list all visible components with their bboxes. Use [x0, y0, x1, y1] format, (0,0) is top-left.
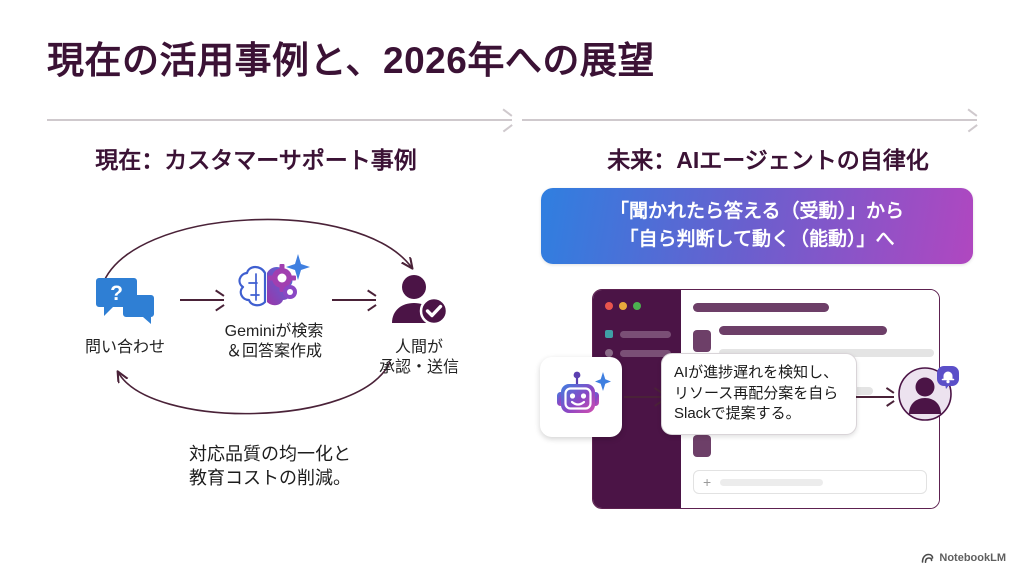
- compose-placeholder: [720, 479, 823, 486]
- window-traffic-lights: [605, 302, 671, 310]
- message-avatar-placeholder: [693, 330, 711, 352]
- person-check-icon: [360, 268, 478, 332]
- message-compose-field[interactable]: +: [693, 470, 927, 494]
- message-avatar-placeholder: [693, 435, 711, 457]
- flow-node-label: 問い合わせ: [62, 338, 188, 358]
- flow-node-inquiry: ? 問い合わせ: [62, 268, 188, 358]
- flow-caption: 対応品質の均一化と 教育コストの削減。: [60, 442, 480, 491]
- flow-node-label: Geminiが検索 ＆回答案作成: [200, 322, 348, 362]
- ai-suggestion-bubble: AIが進捗遅れを検知し、 リソース再配分案を自ら Slackで提案する。: [661, 353, 857, 435]
- left-column-rule-arrow: [47, 113, 512, 127]
- sidebar-channel-row: [605, 330, 671, 338]
- notebooklm-watermark: NotebookLM: [921, 552, 1006, 564]
- sidebar-channel-row: [605, 349, 671, 357]
- robot-sparkle-icon: [551, 369, 611, 425]
- flow-node-label: 人間が 承認・送信: [360, 338, 478, 378]
- notebooklm-logo-icon: [921, 553, 934, 564]
- flow-node-gemini: Geminiが検索 ＆回答案作成: [200, 252, 348, 362]
- flow-node-human: 人間が 承認・送信: [360, 268, 478, 378]
- future-statement-banner: 「聞かれたら答える（受動）」から 「自ら判断して動く（能動）」へ: [541, 188, 973, 264]
- brain-gear-sparkle-icon: [200, 252, 348, 316]
- customer-support-flow-diagram: ? 問い合わせ: [60, 190, 480, 500]
- user-avatar: [897, 362, 959, 424]
- right-column-rule-arrow: [522, 113, 977, 127]
- message-placeholder-bar: [693, 303, 829, 312]
- plus-icon[interactable]: +: [703, 475, 711, 489]
- question-speech-bubbles-icon: ?: [62, 268, 188, 332]
- mockup-arrow-2: [856, 391, 894, 403]
- message-placeholder-bar: [719, 326, 887, 335]
- left-column-heading: 現在：カスタマーサポート事例: [0, 141, 512, 175]
- page-title: 現在の活用事例と、2026年への展望: [47, 30, 655, 84]
- right-column-heading: 未来：AIエージェントの自律化: [512, 141, 1024, 175]
- ai-robot-card: [540, 357, 622, 437]
- svg-text:?: ?: [110, 282, 123, 305]
- mockup-arrow-1: [624, 391, 662, 403]
- watermark-label: NotebookLM: [939, 552, 1006, 564]
